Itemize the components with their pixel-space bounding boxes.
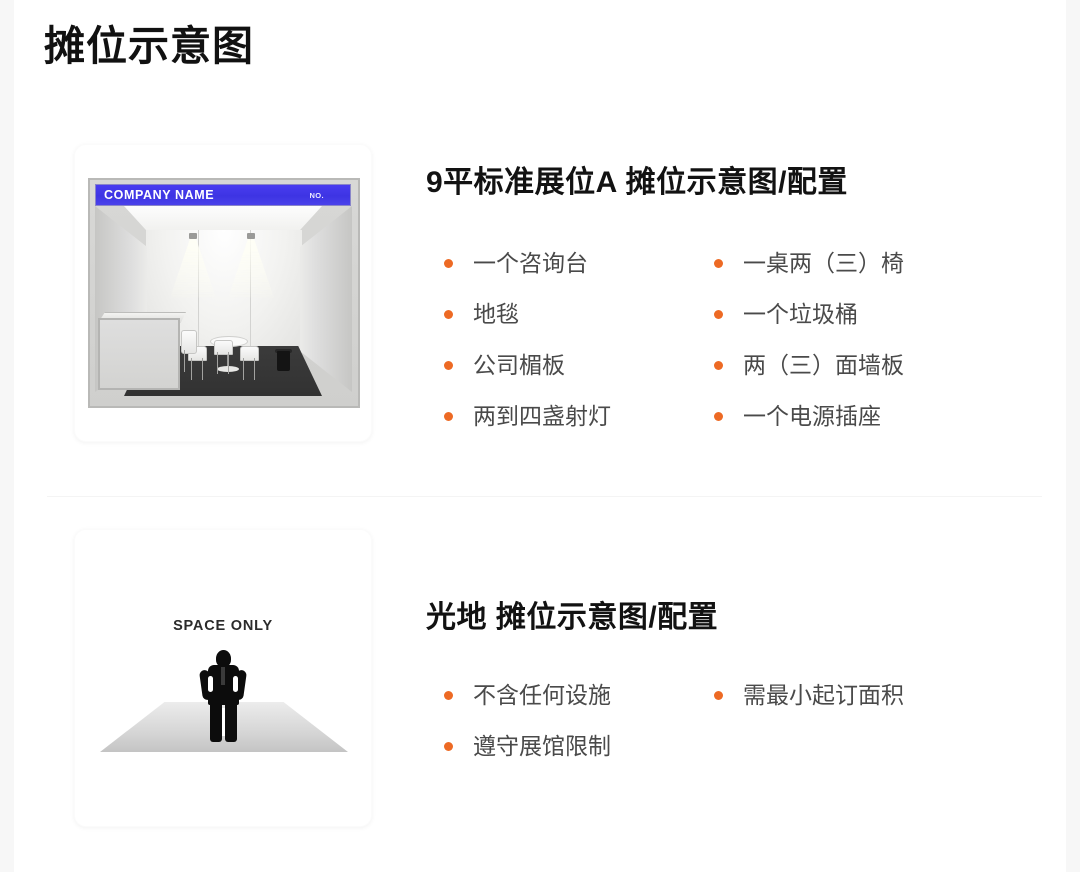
booth-ceiling bbox=[124, 206, 322, 232]
fascia-company-name-label: COMPANY NAME bbox=[104, 188, 214, 202]
spec-list-space-only: 不含任何设施 遵守展馆限制 需最小起订面积 bbox=[444, 670, 984, 772]
bullet-dot-icon bbox=[714, 361, 723, 370]
person-silhouette-icon bbox=[197, 650, 249, 742]
bullet-dot-icon bbox=[444, 361, 453, 370]
spotlight-icon bbox=[189, 233, 197, 239]
spec-item: 遵守展馆限制 bbox=[444, 721, 714, 772]
bullet-dot-icon bbox=[444, 412, 453, 421]
spec-item: 两（三）面墙板 bbox=[714, 340, 984, 391]
spec-label: 一桌两（三）椅 bbox=[743, 252, 904, 275]
bullet-dot-icon bbox=[444, 259, 453, 268]
spec-label: 两到四盏射灯 bbox=[473, 405, 611, 428]
booth-thumbnail-card-space-only[interactable]: SPACE ONLY bbox=[74, 529, 372, 827]
spec-label: 一个垃圾桶 bbox=[743, 303, 858, 326]
bullet-dot-icon bbox=[714, 310, 723, 319]
info-counter bbox=[98, 318, 180, 390]
spec-item: 一桌两（三）椅 bbox=[714, 238, 984, 289]
figure-arm-gap bbox=[233, 676, 238, 692]
space-only-illustration: SPACE ONLY bbox=[75, 530, 371, 826]
bullet-dot-icon bbox=[444, 310, 453, 319]
chair-leg bbox=[228, 352, 229, 374]
section-heading-space-only: 光地 摊位示意图/配置 bbox=[426, 592, 718, 636]
page-container: 摊位示意图 bbox=[14, 0, 1066, 872]
spec-item: 一个电源插座 bbox=[714, 391, 984, 442]
bullet-dot-icon bbox=[444, 742, 453, 751]
fascia-booth-number-label: NO. bbox=[309, 191, 324, 200]
trash-bin bbox=[277, 351, 290, 371]
bullet-dot-icon bbox=[444, 691, 453, 700]
chair-leg bbox=[254, 358, 255, 380]
bullet-dot-icon bbox=[714, 259, 723, 268]
spec-label: 两（三）面墙板 bbox=[743, 354, 904, 377]
spec-label: 不含任何设施 bbox=[473, 684, 611, 707]
figure-tie bbox=[221, 667, 225, 685]
space-only-label: SPACE ONLY bbox=[75, 618, 371, 634]
spec-item: 需最小起订面积 bbox=[714, 670, 984, 721]
spec-label: 一个咨询台 bbox=[473, 252, 588, 275]
figure-right-leg bbox=[225, 702, 237, 742]
spec-item: 地毯 bbox=[444, 289, 714, 340]
booth-thumbnail-card-standard[interactable]: COMPANY NAME NO. bbox=[74, 144, 372, 442]
figure-leg-gap bbox=[222, 708, 225, 736]
figure-left-leg bbox=[210, 702, 222, 742]
chair-leg bbox=[191, 358, 192, 380]
standard-booth-illustration: COMPANY NAME NO. bbox=[88, 178, 360, 408]
spec-label: 地毯 bbox=[473, 303, 519, 326]
spec-list-standard: 一个咨询台 地毯 公司楣板 两到四盏射灯 一桌两（三）椅 一个垃圾桶 bbox=[444, 238, 984, 442]
spec-item: 不含任何设施 bbox=[444, 670, 714, 721]
spec-item: 一个咨询台 bbox=[444, 238, 714, 289]
chair-leg bbox=[184, 350, 185, 372]
spec-item: 一个垃圾桶 bbox=[714, 289, 984, 340]
spec-item: 公司楣板 bbox=[444, 340, 714, 391]
bullet-dot-icon bbox=[714, 412, 723, 421]
chair-leg bbox=[243, 358, 244, 380]
spec-label: 遵守展馆限制 bbox=[473, 735, 611, 758]
spec-item: 两到四盏射灯 bbox=[444, 391, 714, 442]
chair-leg bbox=[217, 352, 218, 374]
spec-label: 需最小起订面积 bbox=[743, 684, 904, 707]
chair-leg bbox=[202, 358, 203, 380]
bullet-dot-icon bbox=[714, 691, 723, 700]
page-title: 摊位示意图 bbox=[44, 22, 254, 71]
section-divider bbox=[47, 496, 1042, 497]
section-heading-standard: 9平标准展位A 摊位示意图/配置 bbox=[426, 157, 848, 201]
spec-label: 公司楣板 bbox=[473, 354, 565, 377]
spec-label: 一个电源插座 bbox=[743, 405, 881, 428]
spotlight-icon bbox=[247, 233, 255, 239]
booth-section-space-only: SPACE ONLY 光地 摊位示意图/配置 bbox=[14, 515, 1066, 845]
booth-section-standard: COMPANY NAME NO. 9平标准展位A 摊位示意图/配置 一个咨询台 … bbox=[14, 130, 1066, 460]
booth-fascia-board: COMPANY NAME NO. bbox=[95, 184, 351, 206]
figure-arm-gap bbox=[208, 676, 213, 692]
